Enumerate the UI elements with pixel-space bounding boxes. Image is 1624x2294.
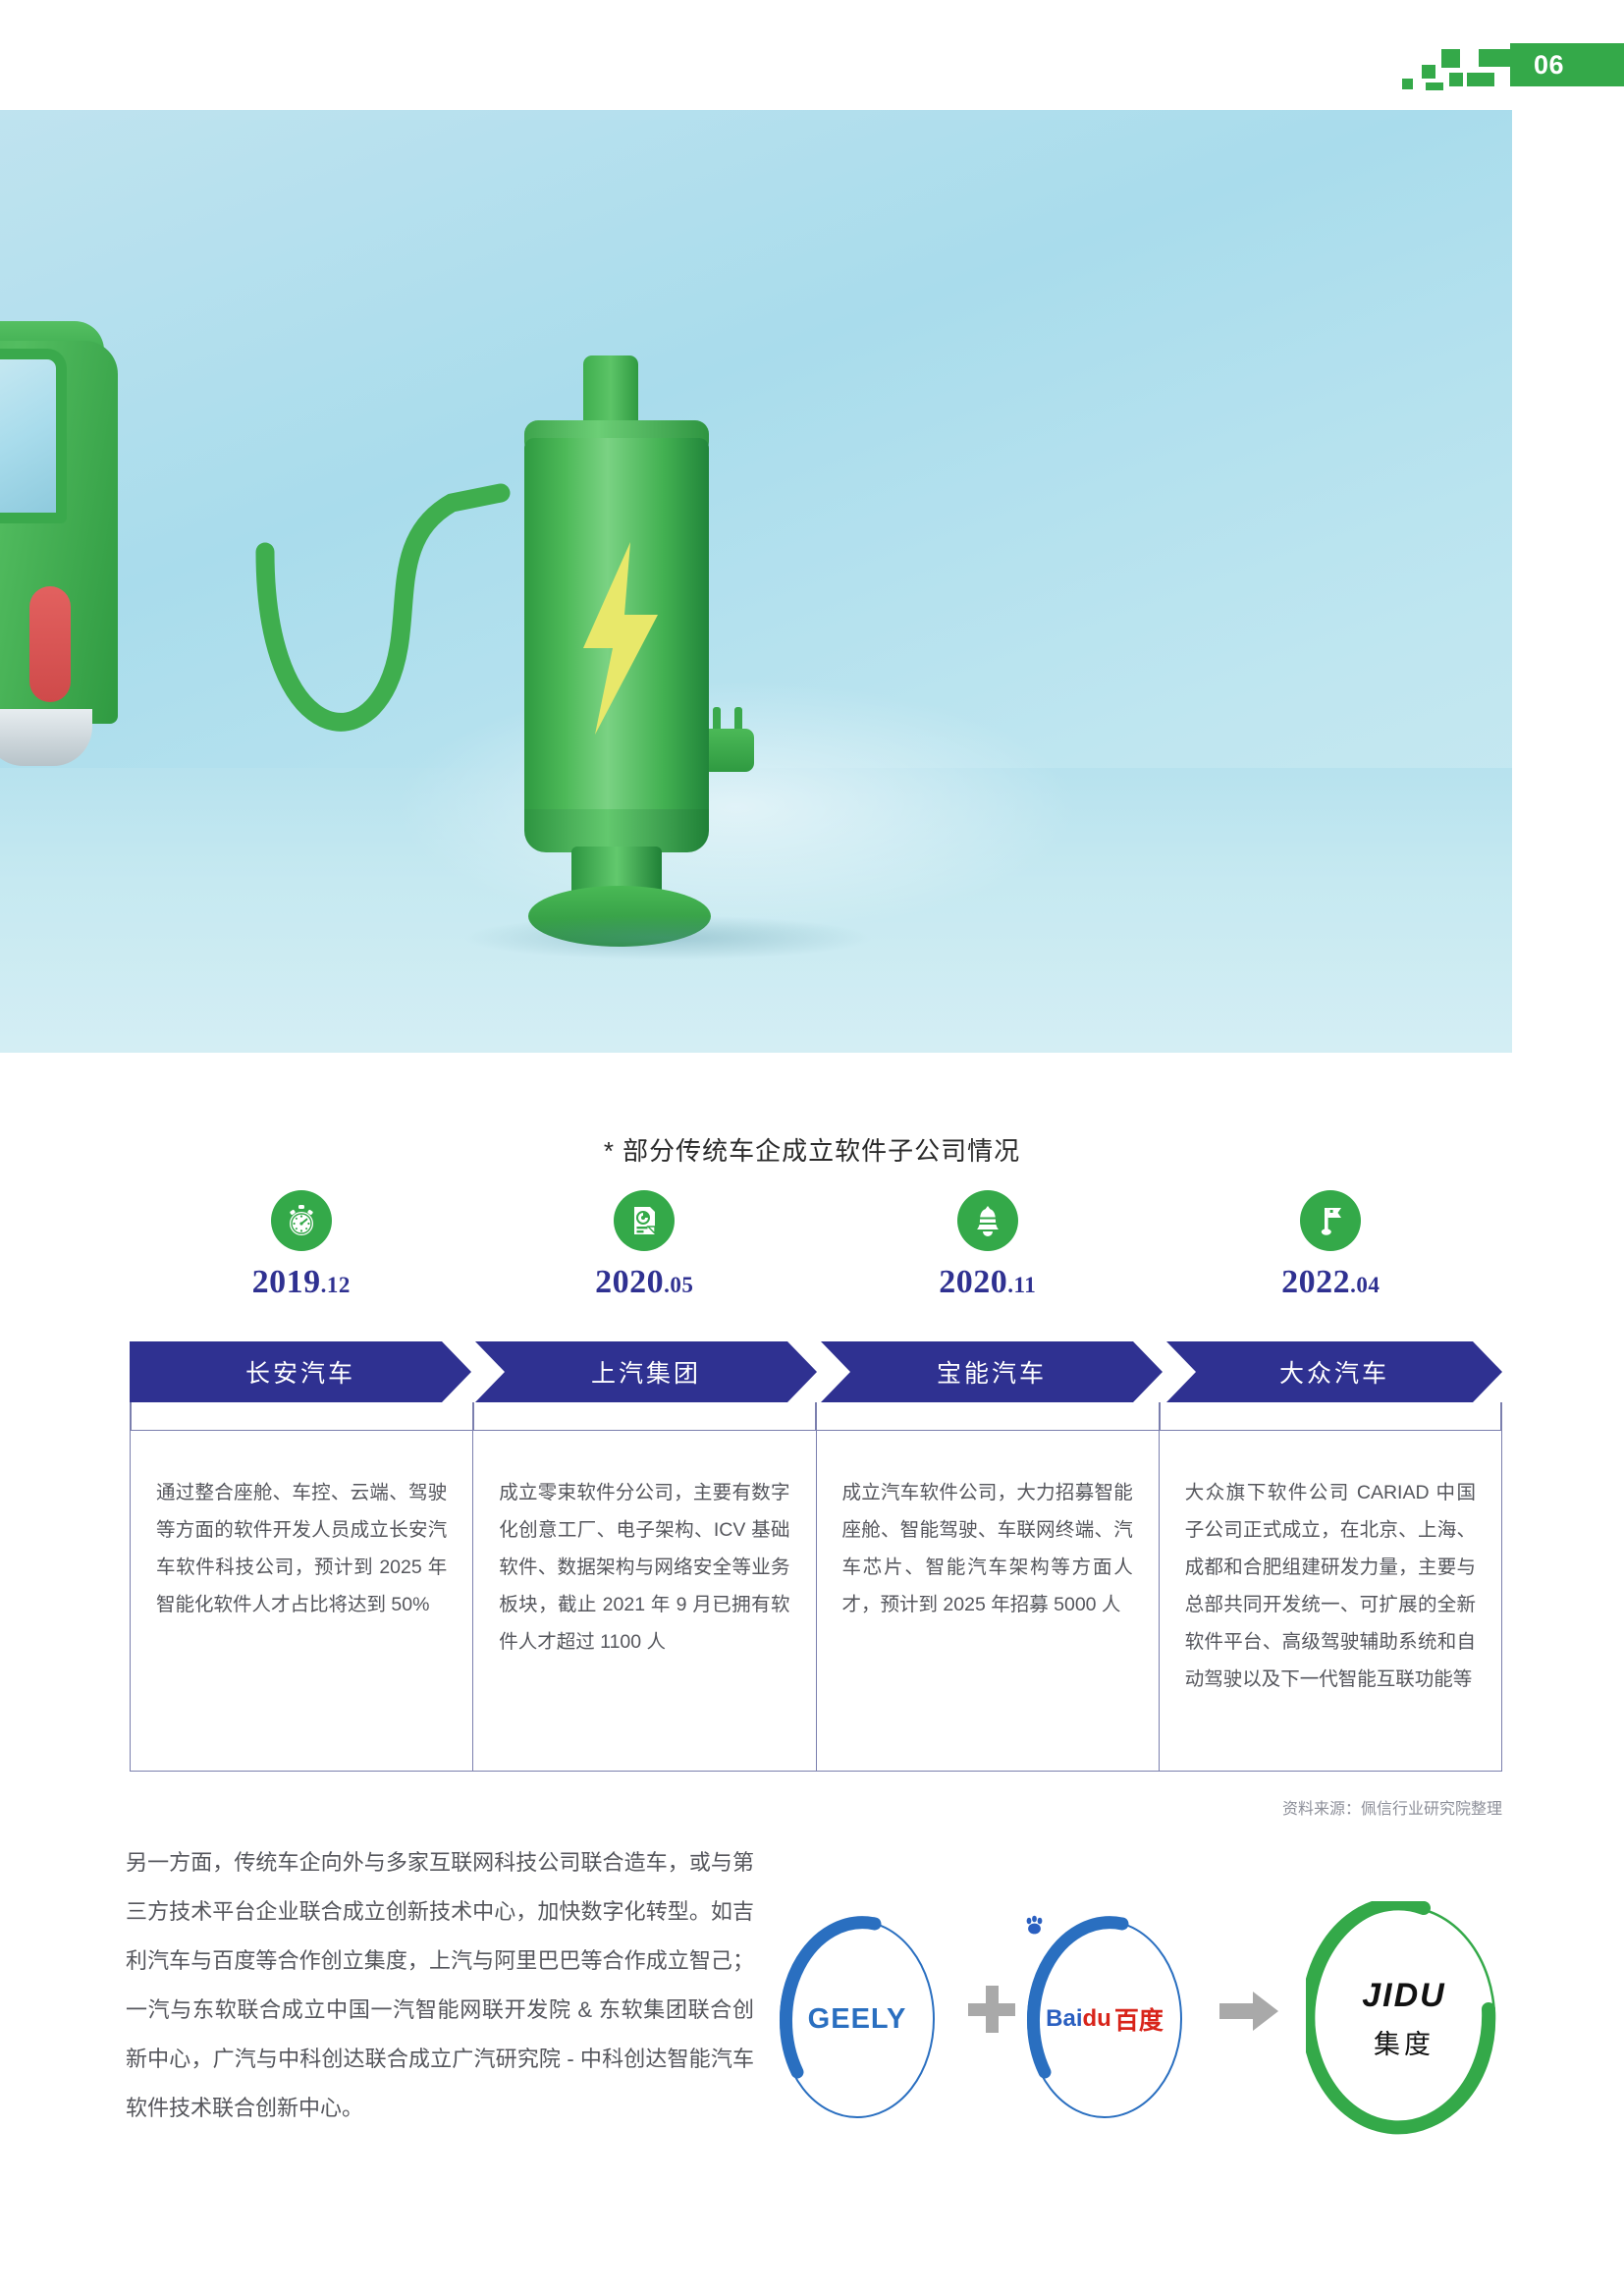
company-chevron-1[interactable]: 上汽集团 (475, 1341, 817, 1402)
baidu-logo: Bai du 百度 (1023, 1915, 1186, 2123)
timeline-date-0: 2019 .12 (252, 1264, 351, 1301)
body-paragraph: 另一方面，传统车企向外与多家互联网科技公司联合造车，或与第三方技术平台企业联合成… (126, 1838, 754, 2133)
box-tick-0 (130, 1402, 132, 1430)
description-text-1: 成立零束软件分公司，主要有数字化创意工厂、电子架构、ICV 基础软件、数据架构与… (499, 1474, 789, 1661)
jidu-label-en: JIDU (1362, 1977, 1445, 2015)
timeline-item-3: 2022 .04 (1160, 1190, 1503, 1301)
description-box-3: 大众旗下软件公司 CARIAD 中国子公司正式成立，在北京、上海、成都和合肥组建… (1160, 1431, 1501, 1771)
description-box-2: 成立汽车软件公司，大力招募智能座舱、智能驾驶、车联网终端、汽车芯片、智能汽车架构… (817, 1431, 1160, 1771)
box-tick-4 (1500, 1402, 1502, 1430)
geely-label: GEELY (808, 2003, 907, 2036)
company-chevron-3[interactable]: 大众汽车 (1166, 1341, 1502, 1402)
company-chevron-0[interactable]: 长安汽车 (130, 1341, 471, 1402)
ev-van-icon (0, 301, 137, 724)
timeline-month-0: .12 (321, 1273, 351, 1298)
box-tick-2 (815, 1402, 817, 1430)
timeline-description-boxes: 通过整合座舱、车控、云端、驾驶等方面的软件开发人员成立长安汽车软件科技公司，预计… (130, 1430, 1502, 1772)
timeline-date-1: 2020 .05 (595, 1264, 693, 1301)
badge-decoration-blocks (1402, 43, 1520, 90)
description-text-2: 成立汽车软件公司，大力招募智能座舱、智能驾驶、车联网终端、汽车芯片、智能汽车架构… (842, 1474, 1133, 1623)
timeline-company-banner: 长安汽车 上汽集团 宝能汽车 大众汽车 (130, 1341, 1502, 1402)
baidu-label-du: du (1083, 2005, 1111, 2033)
timeline-item-0: 2019 .12 (130, 1190, 473, 1301)
company-label-0: 长安汽车 (245, 1354, 355, 1390)
timeline-date-2: 2020 .11 (939, 1264, 1036, 1301)
stopwatch-icon (271, 1190, 332, 1251)
baidu-label-cn: 百度 (1114, 2001, 1164, 2037)
description-text-3: 大众旗下软件公司 CARIAD 中国子公司正式成立，在北京、上海、成都和合肥组建… (1185, 1474, 1476, 1698)
partnership-diagram: GEELY Bai du 百度 (776, 1901, 1532, 2137)
timeline-item-2: 2020 .11 (816, 1190, 1160, 1301)
timeline-year-3: 2022 (1281, 1264, 1350, 1301)
geely-logo: GEELY (776, 1915, 939, 2123)
hero-image (0, 110, 1512, 1053)
timeline-year-2: 2020 (939, 1264, 1007, 1301)
description-box-0: 通过整合座舱、车控、云端、驾驶等方面的软件开发人员成立长安汽车软件科技公司，预计… (131, 1431, 473, 1771)
charging-pole-icon (491, 355, 766, 964)
timeline-date-3: 2022 .04 (1281, 1264, 1380, 1301)
description-text-0: 通过整合座舱、车控、云端、驾驶等方面的软件开发人员成立长安汽车软件科技公司，预计… (156, 1474, 447, 1623)
bell-icon (957, 1190, 1018, 1251)
baidu-label-bai: Bai (1046, 2005, 1082, 2033)
lightning-bolt-icon (573, 542, 664, 735)
timeline-year-1: 2020 (595, 1264, 664, 1301)
company-label-2: 宝能汽车 (937, 1354, 1047, 1390)
timeline-month-1: .05 (664, 1273, 693, 1298)
figure-source: 资料来源：佩信行业研究院整理 (0, 1795, 1502, 1819)
box-tick-1 (472, 1402, 474, 1430)
page-number-badge: 06 (1402, 43, 1624, 90)
timeline-year-0: 2019 (252, 1264, 321, 1301)
company-chevron-2[interactable]: 宝能汽车 (821, 1341, 1163, 1402)
plus-icon (968, 1986, 1015, 2033)
arrow-right-icon (1219, 1992, 1278, 2031)
jidu-label-cn: 集度 (1374, 2023, 1435, 2061)
document-chart-icon (614, 1190, 675, 1251)
timeline-month-2: .11 (1007, 1273, 1036, 1298)
paw-icon (1024, 1915, 1046, 1937)
timeline-item-1: 2020 .05 (473, 1190, 817, 1301)
company-label-1: 上汽集团 (591, 1354, 701, 1390)
jidu-logo: JIDU 集度 (1306, 1901, 1502, 2137)
timeline-month-3: .04 (1350, 1273, 1380, 1298)
box-tick-3 (1159, 1402, 1161, 1430)
pole-shadow (461, 915, 874, 960)
page-number-label: 06 (1510, 43, 1624, 86)
company-label-3: 大众汽车 (1279, 1354, 1389, 1390)
description-box-1: 成立零束软件分公司，主要有数字化创意工厂、电子架构、ICV 基础软件、数据架构与… (473, 1431, 816, 1771)
timeline-heads: 2019 .12 2020 .05 (130, 1190, 1502, 1301)
figure-title: * 部分传统车企成立软件子公司情况 (0, 1131, 1624, 1168)
flag-icon (1300, 1190, 1361, 1251)
